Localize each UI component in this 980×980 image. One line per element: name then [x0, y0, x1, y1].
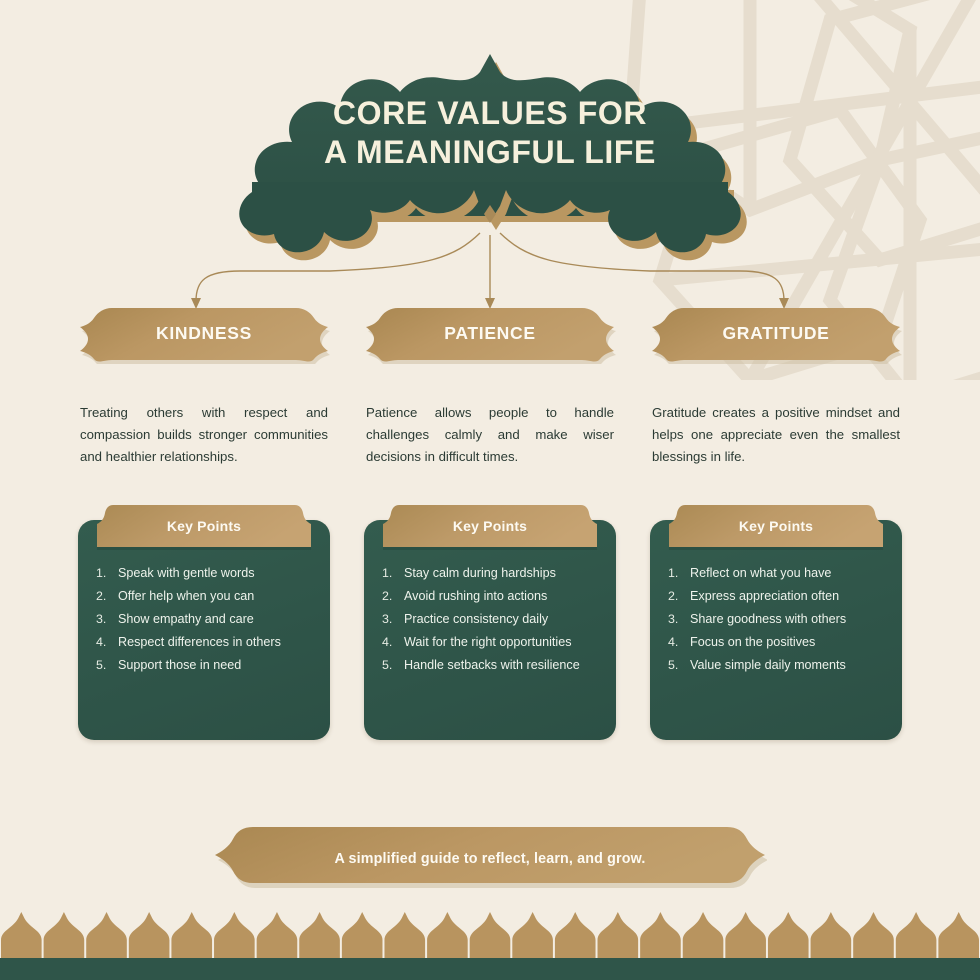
- list-text: Reflect on what you have: [690, 567, 888, 580]
- list-text: Wait for the right opportunities: [404, 636, 602, 649]
- list-number: 5.: [668, 659, 690, 671]
- list-item: 2. Avoid rushing into actions: [382, 590, 602, 603]
- key-points-tab: Key Points: [383, 505, 597, 551]
- heading-pill-gratitude[interactable]: GRATITUDE: [650, 306, 902, 364]
- list-item: 2. Offer help when you can: [96, 590, 316, 603]
- description-patience: Patience allows people to handle challen…: [364, 402, 616, 468]
- column-kindness: KINDNESS Treating others with respect an…: [78, 306, 330, 740]
- list-number: 1.: [382, 567, 404, 579]
- list-item: 5. Handle setbacks with resilience: [382, 659, 602, 672]
- list-number: 5.: [382, 659, 404, 671]
- list-text: Focus on the positives: [690, 636, 888, 649]
- footer-banner: A simplified guide to reflect, learn, an…: [213, 821, 767, 897]
- list-number: 2.: [96, 590, 118, 602]
- list-text: Avoid rushing into actions: [404, 590, 602, 603]
- list-item: 1. Stay calm during hardships: [382, 567, 602, 580]
- key-points-list-patience: 1. Stay calm during hardships 2. Avoid r…: [364, 567, 616, 682]
- title-line-2: A MEANINGFUL LIFE: [324, 134, 656, 171]
- list-item: 5. Support those in need: [96, 659, 316, 672]
- key-points-card-patience: Key Points 1. Stay calm during hardships…: [364, 505, 616, 740]
- bottom-ornament-border: [0, 912, 980, 980]
- list-number: 2.: [382, 590, 404, 602]
- list-number: 4.: [382, 636, 404, 648]
- list-number: 1.: [96, 567, 118, 579]
- list-item: 3. Share goodness with others: [668, 613, 888, 626]
- key-points-list-kindness: 1. Speak with gentle words 2. Offer help…: [78, 567, 330, 682]
- key-points-title: Key Points: [669, 505, 883, 547]
- list-text: Offer help when you can: [118, 590, 316, 603]
- list-number: 4.: [96, 636, 118, 648]
- key-points-card-gratitude: Key Points 1. Reflect on what you have 2…: [650, 505, 902, 740]
- list-text: Practice consistency daily: [404, 613, 602, 626]
- column-gratitude: GRATITUDE Gratitude creates a positive m…: [650, 306, 902, 740]
- description-gratitude: Gratitude creates a positive mindset and…: [650, 402, 902, 468]
- list-text: Stay calm during hardships: [404, 567, 602, 580]
- key-points-list-gratitude: 1. Reflect on what you have 2. Express a…: [650, 567, 902, 682]
- heading-label-kindness: KINDNESS: [78, 306, 330, 361]
- list-item: 3. Practice consistency daily: [382, 613, 602, 626]
- list-text: Show empathy and care: [118, 613, 316, 626]
- heading-label-gratitude: GRATITUDE: [650, 306, 902, 361]
- footer-tagline: A simplified guide to reflect, learn, an…: [213, 821, 767, 897]
- key-points-title: Key Points: [97, 505, 311, 547]
- key-points-tab: Key Points: [669, 505, 883, 551]
- page-title: CORE VALUES FOR A MEANINGFUL LIFE: [148, 50, 832, 216]
- list-number: 4.: [668, 636, 690, 648]
- list-text: Respect differences in others: [118, 636, 316, 649]
- list-text: Speak with gentle words: [118, 567, 316, 580]
- list-number: 3.: [96, 613, 118, 625]
- list-number: 3.: [382, 613, 404, 625]
- list-item: 2. Express appreciation often: [668, 590, 888, 603]
- list-text: Value simple daily moments: [690, 659, 888, 672]
- list-item: 4. Focus on the positives: [668, 636, 888, 649]
- list-item: 4. Wait for the right opportunities: [382, 636, 602, 649]
- list-number: 2.: [668, 590, 690, 602]
- list-text: Handle setbacks with resilience: [404, 659, 602, 672]
- list-number: 3.: [668, 613, 690, 625]
- list-item: 3. Show empathy and care: [96, 613, 316, 626]
- description-kindness: Treating others with respect and compass…: [78, 402, 330, 468]
- list-item: 5. Value simple daily moments: [668, 659, 888, 672]
- key-points-title: Key Points: [383, 505, 597, 547]
- list-number: 1.: [668, 567, 690, 579]
- list-text: Share goodness with others: [690, 613, 888, 626]
- infographic-canvas: CORE VALUES FOR A MEANINGFUL LIFE: [0, 0, 980, 980]
- key-points-tab: Key Points: [97, 505, 311, 551]
- heading-pill-patience[interactable]: PATIENCE: [364, 306, 616, 364]
- title-line-1: CORE VALUES FOR: [333, 95, 647, 132]
- list-item: 1. Speak with gentle words: [96, 567, 316, 580]
- list-number: 5.: [96, 659, 118, 671]
- value-columns: KINDNESS Treating others with respect an…: [0, 306, 980, 740]
- heading-pill-kindness[interactable]: KINDNESS: [78, 306, 330, 364]
- title-banner: CORE VALUES FOR A MEANINGFUL LIFE: [148, 50, 832, 222]
- key-points-card-kindness: Key Points 1. Speak with gentle words 2.…: [78, 505, 330, 740]
- list-text: Support those in need: [118, 659, 316, 672]
- heading-label-patience: PATIENCE: [364, 306, 616, 361]
- list-text: Express appreciation often: [690, 590, 888, 603]
- list-item: 4. Respect differences in others: [96, 636, 316, 649]
- column-patience: PATIENCE Patience allows people to handl…: [364, 306, 616, 740]
- list-item: 1. Reflect on what you have: [668, 567, 888, 580]
